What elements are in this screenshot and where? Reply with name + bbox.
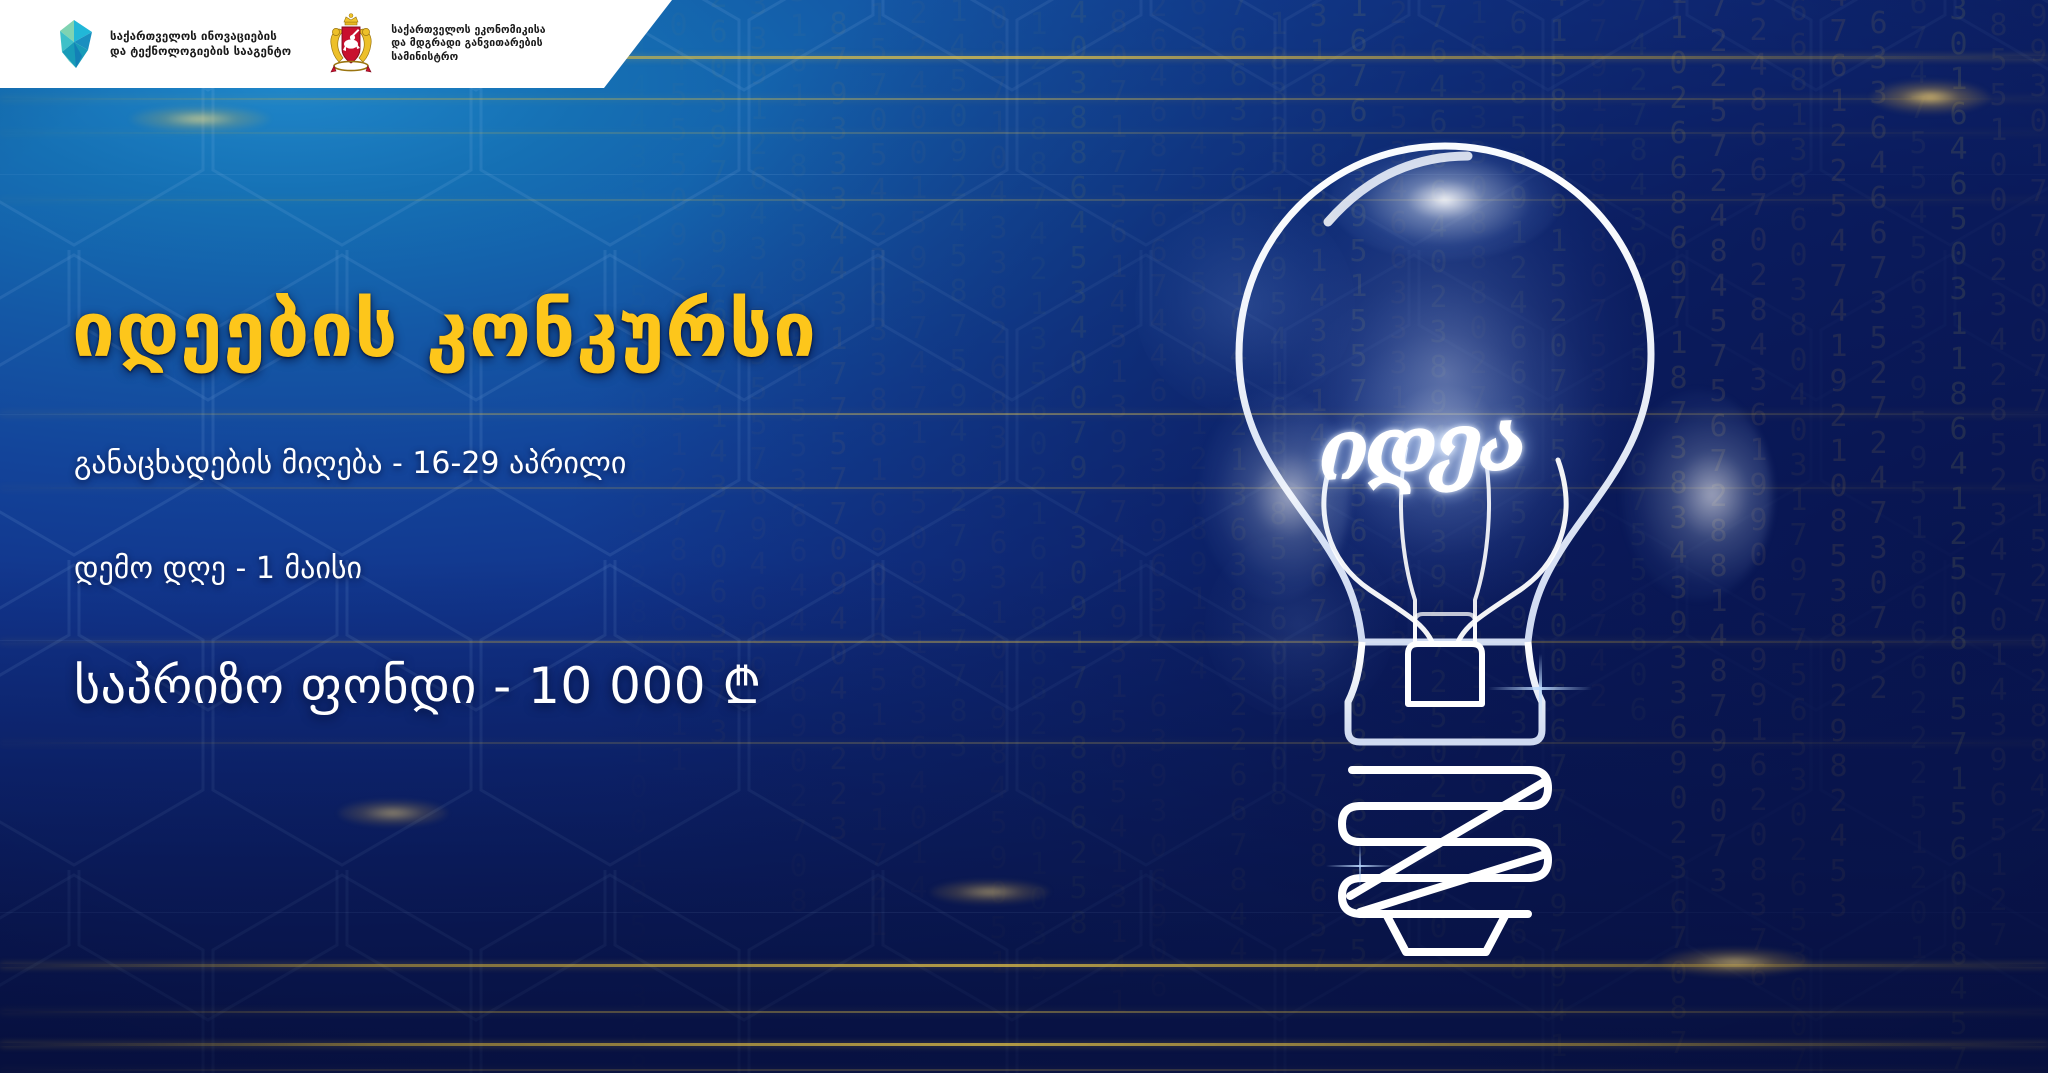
poster-canvas: 7904443511517086632842710019553683408070… bbox=[0, 0, 2048, 1073]
georgia-coat-of-arms-icon bbox=[325, 13, 377, 75]
ministry-logo-text: საქართველოს ეკონომიკისადა მდგრადი განვით… bbox=[391, 24, 545, 65]
bulb-screw-base bbox=[1342, 770, 1548, 952]
page-title: იდეების კონკურსი bbox=[72, 288, 817, 372]
crystal-gem-icon bbox=[52, 18, 96, 70]
header-logo-band: საქართველოს ინოვაციებისდა ტექნოლოგიების … bbox=[0, 0, 672, 88]
application-deadline-text: განაცხადების მიღება - 16-29 აპრილი bbox=[74, 444, 626, 484]
agency-logo-text: საქართველოს ინოვაციებისდა ტექნოლოგიების … bbox=[110, 29, 291, 59]
bulb-shoulder bbox=[1348, 642, 1542, 742]
ministry-logo: საქართველოს ეკონომიკისადა მდგრადი განვით… bbox=[325, 13, 545, 75]
agency-logo: საქართველოს ინოვაციებისდა ტექნოლოგიების … bbox=[52, 18, 291, 70]
prize-fund-text: საპრიზო ფონდი - 10 000 ₾ bbox=[74, 655, 762, 717]
vignette-overlay bbox=[0, 0, 2048, 1073]
demo-day-text: დემო დღე - 1 მაისი bbox=[74, 549, 362, 589]
light-bulb-illustration bbox=[1210, 130, 1680, 960]
bulb-stem bbox=[1408, 644, 1482, 704]
bulb-glass-fill bbox=[1239, 146, 1651, 642]
